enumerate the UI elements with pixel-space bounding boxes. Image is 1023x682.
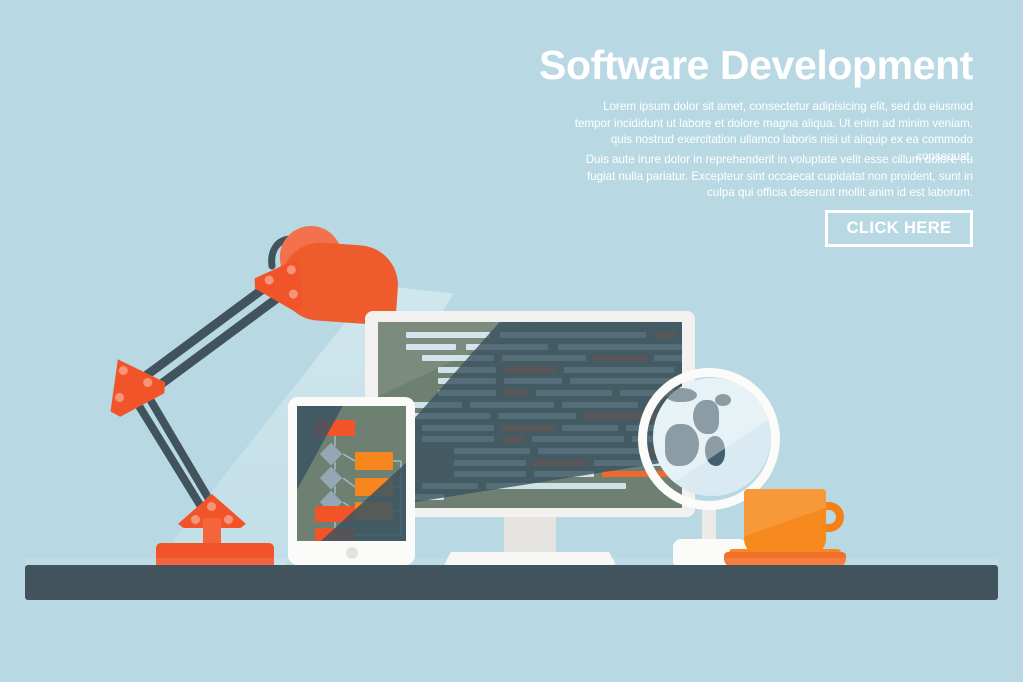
- code-line-segment: [438, 378, 496, 384]
- code-line-segment: [504, 378, 562, 384]
- cup-body: [744, 489, 826, 555]
- code-line-segment: [406, 413, 490, 419]
- globe-landmass: [715, 394, 731, 406]
- code-line-segment: [470, 402, 554, 408]
- tablet-screen: [297, 406, 406, 541]
- desk-surface: [25, 565, 998, 600]
- code-line-segment: [406, 344, 456, 350]
- code-line-segment: [466, 344, 548, 350]
- globe-sphere: [653, 378, 771, 496]
- code-line-segment: [536, 390, 612, 396]
- globe-landmass: [693, 400, 719, 434]
- code-line-segment: [486, 483, 626, 489]
- code-line-segment: [558, 344, 682, 350]
- code-line-segment: [422, 355, 494, 361]
- code-line-segment: [538, 448, 642, 454]
- click-here-button[interactable]: CLICK HERE: [825, 210, 973, 247]
- code-line-segment: [504, 367, 556, 373]
- code-line-segment: [504, 390, 528, 396]
- code-line-segment: [502, 436, 524, 442]
- code-line-segment: [532, 436, 624, 442]
- illustration-canvas: Software Development Lorem ipsum dolor s…: [0, 0, 1023, 682]
- code-line-segment: [502, 425, 554, 431]
- flowchart-process-node: [355, 502, 393, 520]
- code-line-segment: [562, 402, 638, 408]
- globe-stand-post: [702, 505, 716, 543]
- flowchart-process-node: [315, 506, 355, 522]
- code-line-segment: [534, 460, 586, 466]
- code-line-segment: [564, 367, 674, 373]
- code-line-segment: [422, 483, 478, 489]
- code-line-segment: [500, 332, 646, 338]
- code-line-segment: [406, 332, 490, 338]
- code-line-segment: [454, 460, 526, 466]
- code-line-segment: [502, 355, 586, 361]
- code-line-segment: [422, 436, 494, 442]
- code-line-segment: [498, 413, 576, 419]
- code-line-segment: [570, 378, 678, 384]
- monitor-neck: [504, 517, 556, 555]
- globe-landmass: [667, 388, 697, 402]
- code-line-segment: [422, 425, 494, 431]
- code-line-segment: [654, 355, 682, 361]
- page-title: Software Development: [353, 44, 973, 87]
- code-line-segment: [454, 448, 530, 454]
- code-line-segment: [594, 355, 646, 361]
- code-line-segment: [654, 332, 676, 338]
- code-line-segment: [438, 390, 496, 396]
- globe-landmass: [705, 436, 725, 466]
- flowchart-process-node: [355, 478, 393, 496]
- code-line-segment: [454, 471, 526, 477]
- code-line-segment: [562, 425, 618, 431]
- flowchart-process-node: [315, 420, 355, 436]
- cup-highlight: [744, 489, 826, 555]
- flowchart-process-node: [355, 452, 393, 470]
- flowchart-process-node: [315, 528, 355, 541]
- monitor-screen: [378, 322, 682, 508]
- code-line-segment: [438, 367, 496, 373]
- globe-landmass: [665, 424, 699, 466]
- hero-paragraph-2: Duis aute irure dolor in reprehenderit i…: [573, 152, 973, 202]
- lamp-joint-middle: [90, 345, 171, 424]
- code-line-segment: [534, 471, 594, 477]
